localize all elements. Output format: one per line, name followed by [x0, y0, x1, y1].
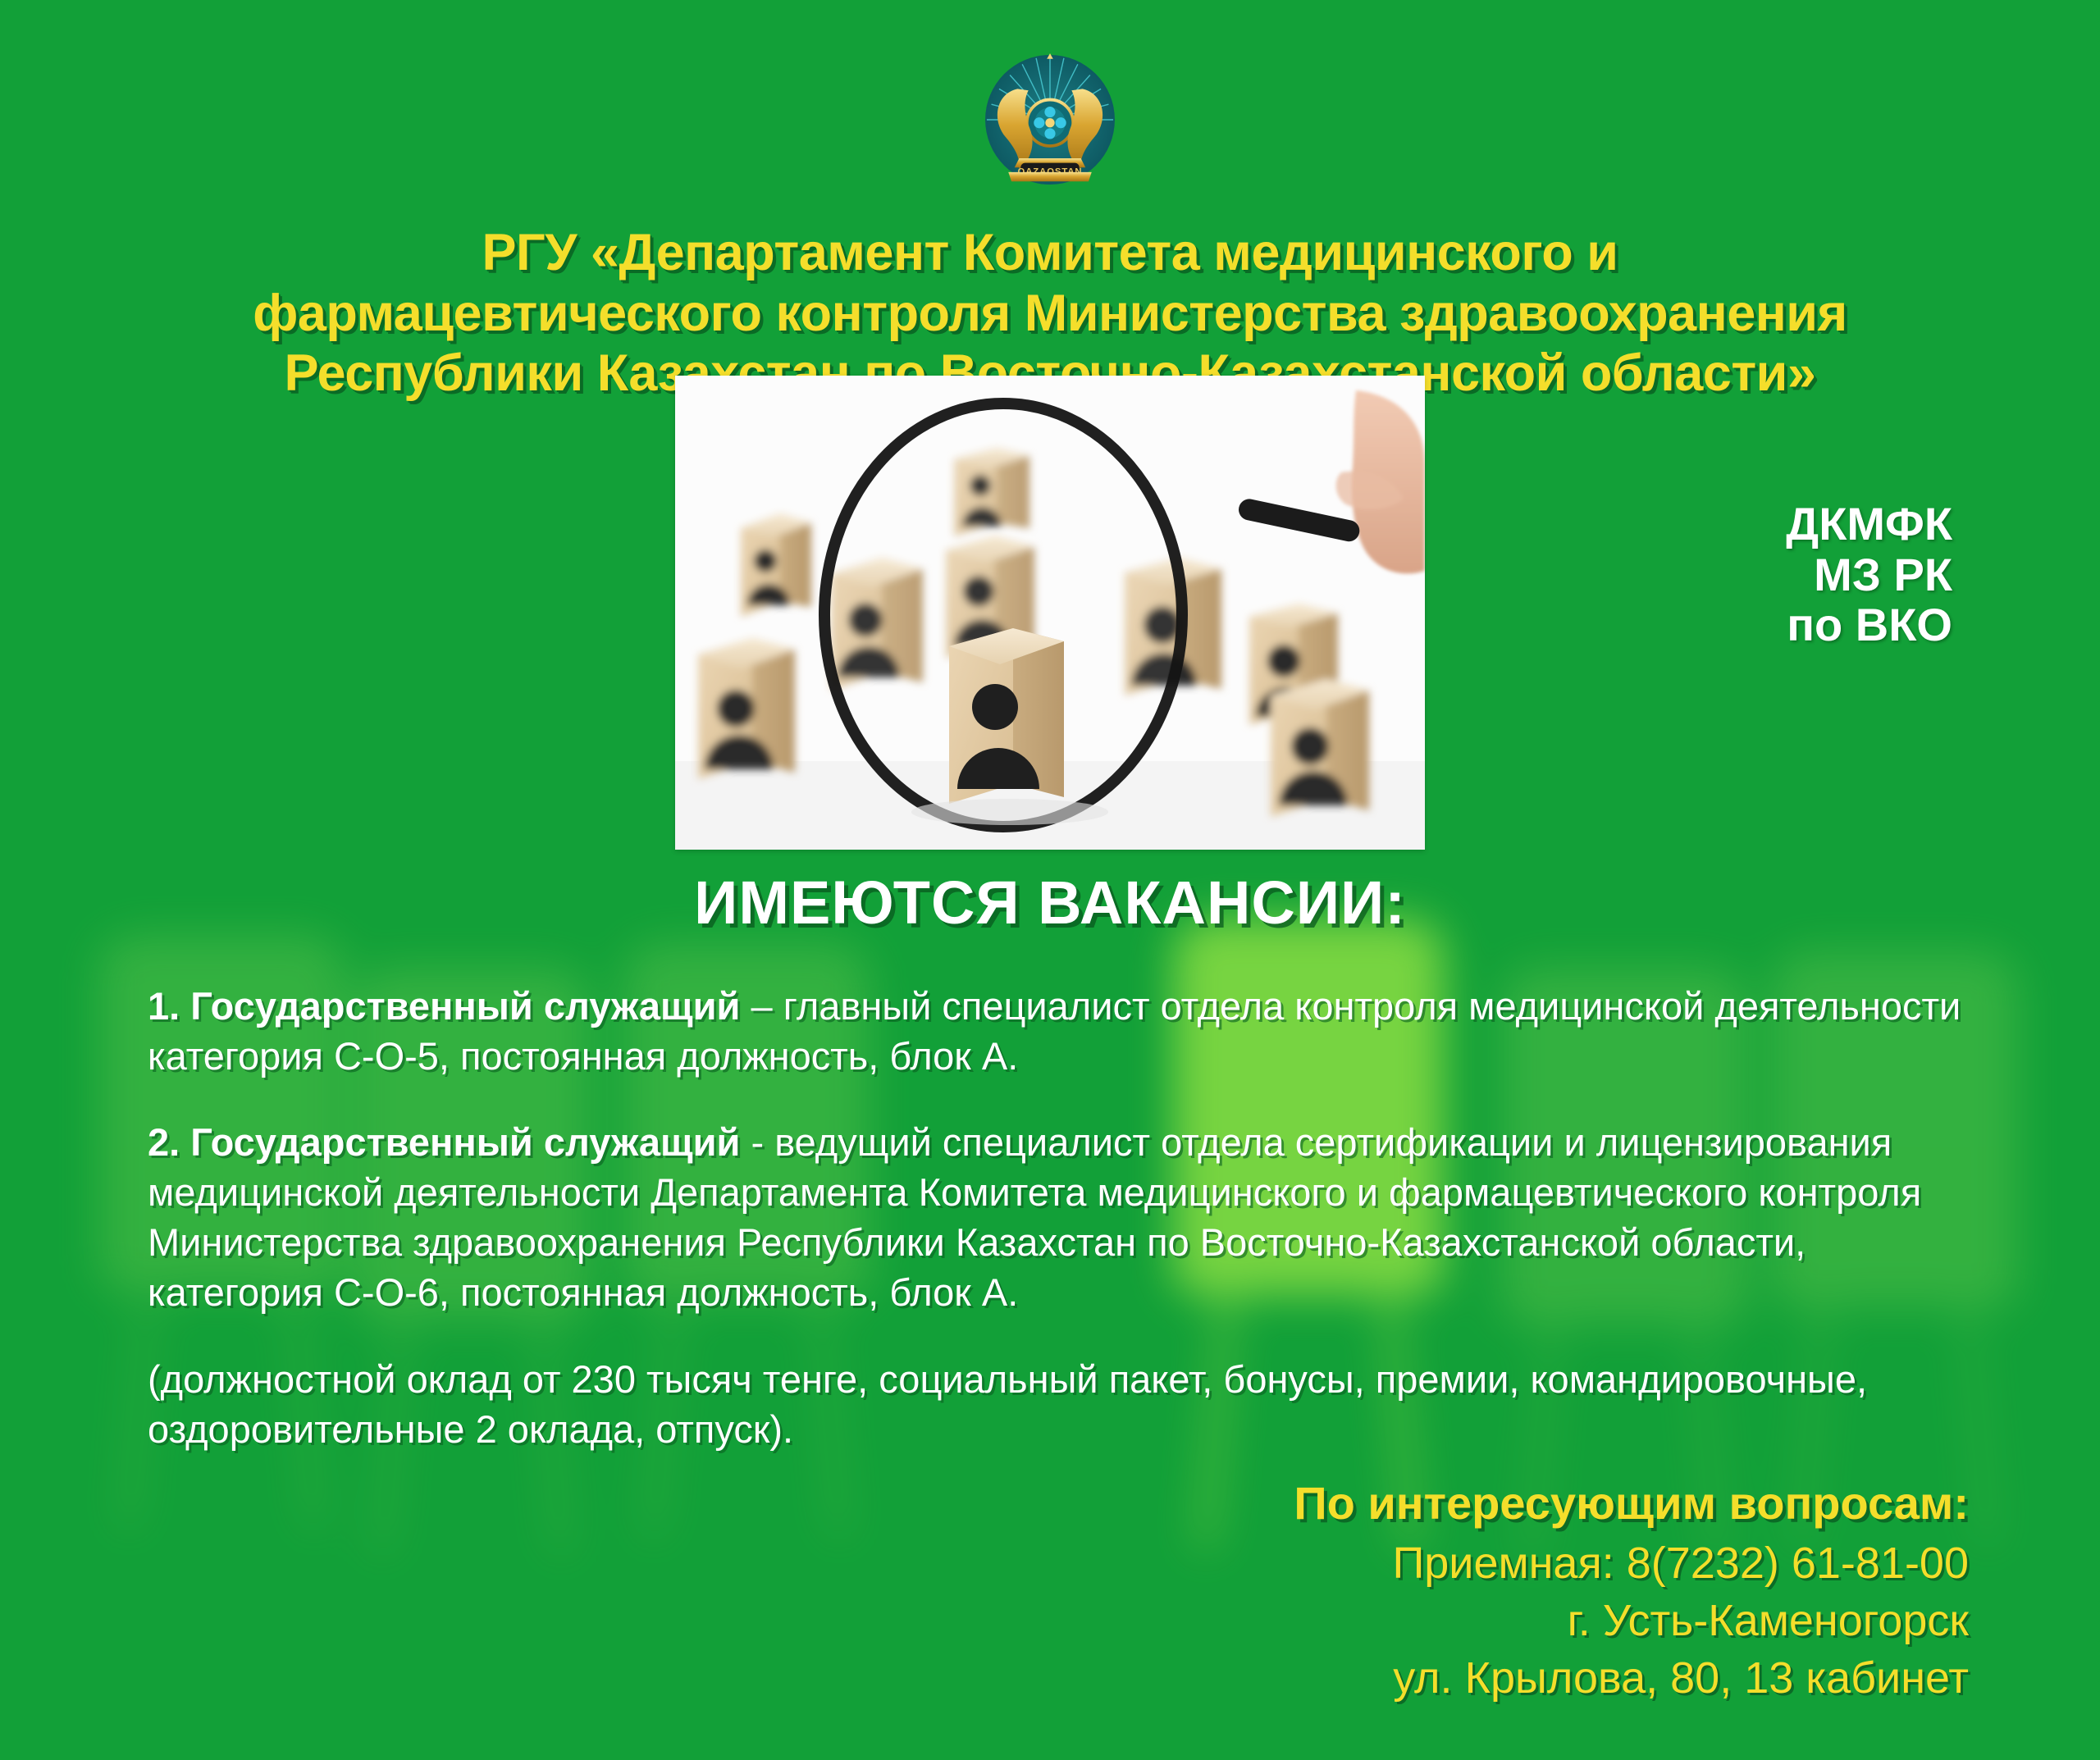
acronym-line-3: по ВКО	[1786, 600, 1952, 650]
benefits-note: (должностной оклад от 230 тысяч тенге, с…	[148, 1354, 1977, 1454]
vacancies-body: 1. Государственный служащий – главный сп…	[148, 981, 1977, 1454]
org-title-line-1: РГУ «Департамент Комитета медицинского и	[148, 223, 1952, 284]
vacancy-announcement-poster: QAZAQSTAN РГУ «Департамент Комитета меди…	[0, 0, 2100, 1760]
contacts-block: По интересующим вопросам: Приемная: 8(72…	[1294, 1476, 1969, 1708]
magnifier-over-person-blocks-icon	[675, 376, 1425, 850]
contacts-heading: По интересующим вопросам:	[1294, 1476, 1969, 1530]
coat-of-arms-icon: QAZAQSTAN	[973, 43, 1127, 197]
vacancies-heading: ИМЕЮТСЯ ВАКАНСИИ:	[148, 868, 1952, 937]
agency-acronym: ДКМФК МЗ РК по ВКО	[1786, 499, 1952, 650]
contact-address: ул. Крылова, 80, 13 кабинет	[1294, 1649, 1969, 1707]
vacancy-1-number: 1.	[148, 984, 180, 1028]
vacancy-item-2: 2. Государственный служащий - ведущий сп…	[148, 1117, 1977, 1317]
org-title-line-2: фармацевтического контроля Министерства …	[148, 284, 1952, 344]
vacancy-2-number: 2.	[148, 1120, 180, 1164]
contact-phone[interactable]: Приемная: 8(7232) 61-81-00	[1294, 1534, 1969, 1592]
vacancy-1-title: Государственный служащий	[190, 984, 740, 1028]
acronym-line-2: МЗ РК	[1786, 549, 1952, 600]
vacancy-2-title: Государственный служащий	[190, 1120, 740, 1164]
vacancy-item-1: 1. Государственный служащий – главный сп…	[148, 981, 1977, 1081]
acronym-line-1: ДКМФК	[1786, 499, 1952, 549]
emblem-container: QAZAQSTAN	[0, 43, 2100, 197]
hero-photo	[675, 376, 1425, 850]
contact-city: г. Усть-Каменогорск	[1294, 1592, 1969, 1649]
